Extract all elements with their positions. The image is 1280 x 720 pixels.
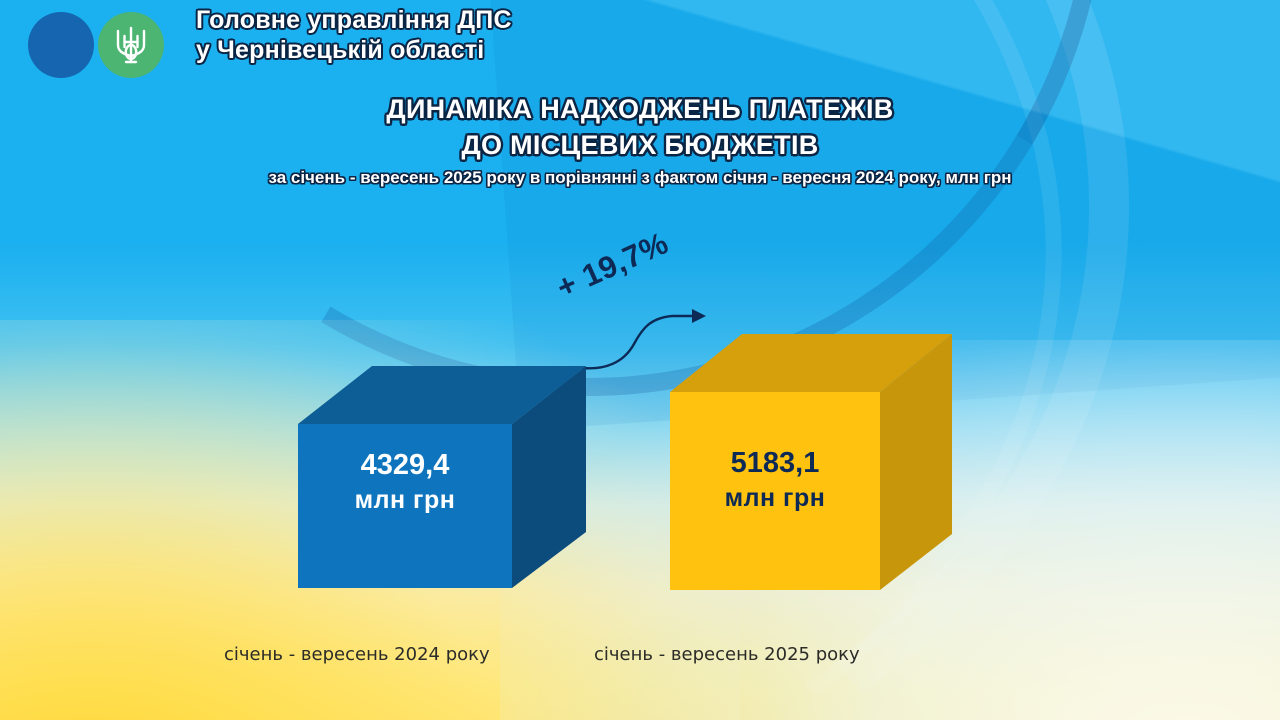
- ukraine-trident-icon: [98, 12, 164, 78]
- bar-2025-cube: [662, 328, 962, 594]
- bar-2024-cube: [290, 360, 590, 592]
- axis-label-2025: січень - вересень 2025 року: [594, 644, 860, 665]
- axis-label-2024: січень - вересень 2024 року: [224, 644, 490, 665]
- blue-circle-icon: [28, 12, 94, 78]
- organization-logo: [24, 8, 184, 80]
- page-title: ДИНАМІКА НАДХОДЖЕНЬ ПЛАТЕЖІВ ДО МІСЦЕВИХ…: [0, 92, 1280, 164]
- organization-title-line2: у Чернівецькій області: [196, 36, 796, 66]
- page-subtitle: за січень - вересень 2025 року в порівня…: [0, 168, 1280, 188]
- organization-title-line1: Головне управління ДПС: [196, 6, 796, 36]
- page-title-line1: ДИНАМІКА НАДХОДЖЕНЬ ПЛАТЕЖІВ: [0, 92, 1280, 128]
- page-title-line2: ДО МІСЦЕВИХ БЮДЖЕТІВ: [0, 128, 1280, 164]
- slide-canvas: Головне управління ДПС у Чернівецькій об…: [0, 0, 1280, 720]
- organization-title: Головне управління ДПС у Чернівецькій об…: [196, 6, 796, 65]
